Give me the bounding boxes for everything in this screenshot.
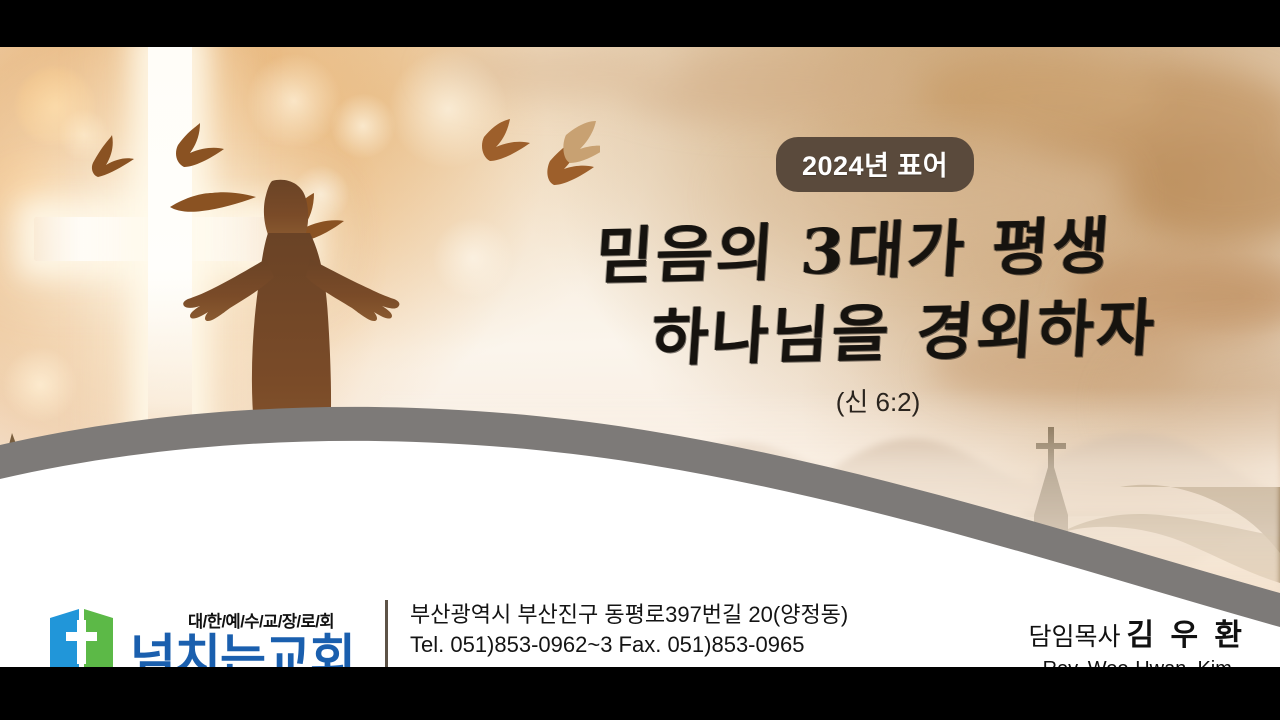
letterbox-top: [0, 0, 1280, 47]
pastor-block: 담임목사김 우 환 Rev. Woo-Hwan, Kim: [1029, 610, 1247, 667]
verse-reference: (신 6:2): [480, 382, 1270, 419]
church-logo-text: 대/한/예/수/교/장/로/회 넘치는교회: [130, 608, 355, 667]
footer-bar: 대/한/예/수/교/장/로/회 넘치는교회 부산광역시 부산진구 동평로397번…: [0, 577, 1280, 667]
slogan-line-2: 하나님을 경외하자: [477, 293, 1273, 376]
phone-fax-line: Tel. 051)853-0962~3 Fax. 051)853-0965: [410, 630, 848, 660]
footer-divider: [385, 600, 388, 668]
pastor-name-english: Rev. Woo-Hwan, Kim: [1029, 658, 1247, 667]
pastor-name-korean: 담임목사김 우 환: [1029, 610, 1247, 654]
pastor-title: 담임목사: [1029, 623, 1121, 651]
banner-stage: 2024년 표어 믿음의 3대가 평생 하나님을 경외하자 (신 6:2) 대/…: [0, 0, 1280, 720]
artwork-frame: 2024년 표어 믿음의 3대가 평생 하나님을 경외하자 (신 6:2) 대/…: [0, 47, 1280, 667]
church-logo[interactable]: 대/한/예/수/교/장/로/회 넘치는교회: [46, 606, 355, 668]
contact-block: 부산광역시 부산진구 동평로397번길 20(양정동) Tel. 051)853…: [410, 600, 848, 667]
year-slogan-badge: 2024년 표어: [776, 137, 974, 192]
slogan-line-1: 믿음의 3대가 평생: [477, 210, 1273, 293]
address-line: 부산광역시 부산진구 동평로397번길 20(양정동): [410, 600, 848, 630]
denomination-label: 대/한/예/수/교/장/로/회: [188, 608, 355, 632]
pastor-name-kr: 김 우 환: [1127, 619, 1246, 652]
church-name-label: 넘치는교회: [130, 633, 355, 667]
headline-block: 2024년 표어 믿음의 3대가 평생 하나님을 경외하자 (신 6:2): [480, 137, 1270, 419]
letterbox-bottom: [0, 667, 1280, 720]
open-book-cross-logo-icon: [46, 606, 120, 668]
